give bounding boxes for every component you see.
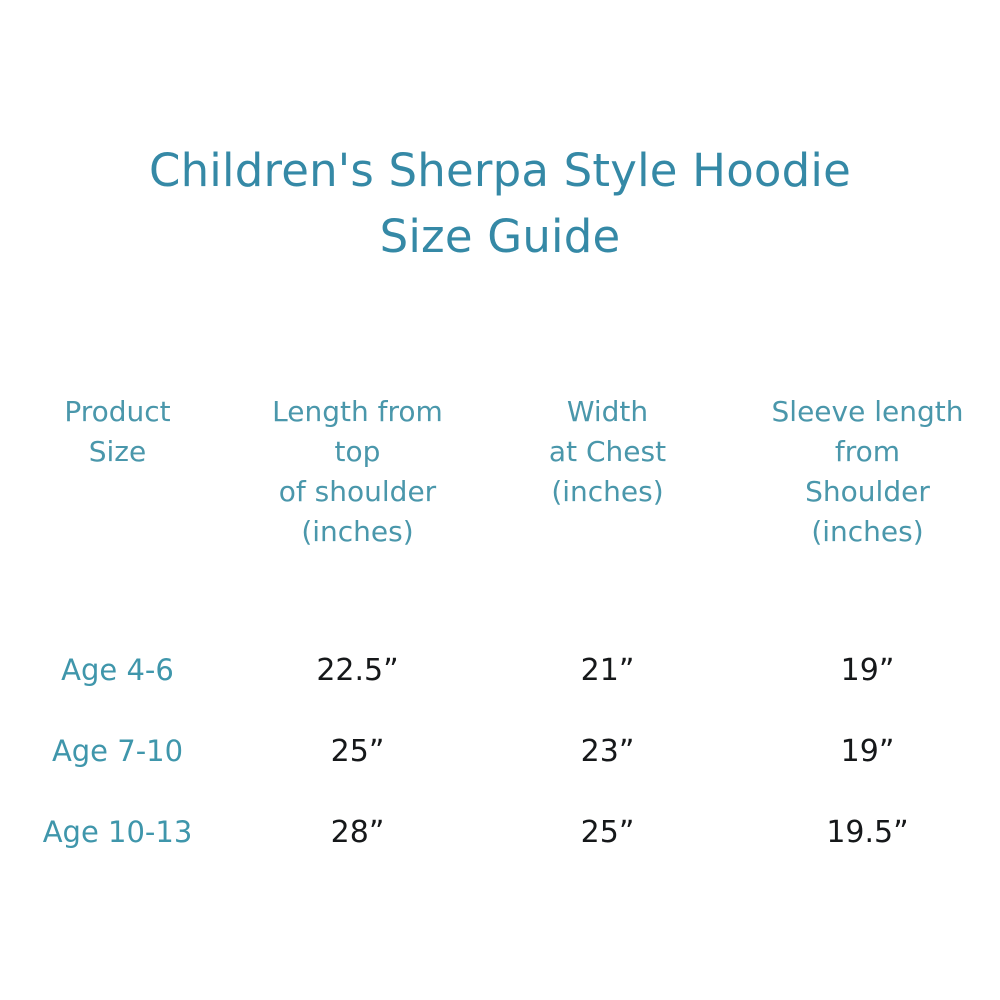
table-row: Age 4-6 22.5” 21” 19”: [0, 630, 1000, 711]
column-header-line: (inches): [735, 512, 1000, 552]
spacer-cell: [235, 552, 480, 630]
measure-value: 23”: [581, 734, 635, 769]
table-body: Age 4-6 22.5” 21” 19” Age 7-10 25”: [0, 552, 1000, 873]
column-header-line: (inches): [480, 472, 735, 512]
cell-length-from-top-of-shoulder: 28”: [235, 792, 480, 873]
spacer-cell: [0, 552, 235, 630]
column-header-line: Length from: [235, 392, 480, 432]
table-row: Age 7-10 25” 23” 19”: [0, 711, 1000, 792]
cell-product-size: Age 7-10: [0, 711, 235, 792]
table-header: Product Size Length from top of shoulder…: [0, 392, 1000, 552]
page-title-line-2: Size Guide: [0, 204, 1000, 270]
cell-length-from-top-of-shoulder: 22.5”: [235, 630, 480, 711]
column-header-product-size: Product Size: [0, 392, 235, 552]
column-header-line: Sleeve length: [735, 392, 1000, 432]
measure-value: 21”: [581, 653, 635, 688]
column-header-line: Product: [0, 392, 235, 432]
column-header-line: top: [235, 432, 480, 472]
page-title: Children's Sherpa Style Hoodie Size Guid…: [0, 138, 1000, 270]
column-header-line: Shoulder: [735, 472, 1000, 512]
measure-value: 28”: [331, 815, 385, 850]
page-title-line-1: Children's Sherpa Style Hoodie: [0, 138, 1000, 204]
cell-product-size: Age 10-13: [0, 792, 235, 873]
cell-length-from-top-of-shoulder: 25”: [235, 711, 480, 792]
cell-width-at-chest: 23”: [480, 711, 735, 792]
cell-sleeve-length-from-shoulder: 19”: [735, 630, 1000, 711]
cell-sleeve-length-from-shoulder: 19.5”: [735, 792, 1000, 873]
cell-sleeve-length-from-shoulder: 19”: [735, 711, 1000, 792]
column-header-line: (inches): [235, 512, 480, 552]
measure-value: 22.5”: [316, 653, 398, 688]
column-header-width-at-chest: Width at Chest (inches): [480, 392, 735, 552]
size-guide-page: Children's Sherpa Style Hoodie Size Guid…: [0, 0, 1000, 1000]
size-label: Age 10-13: [43, 815, 193, 849]
column-header-sleeve-length-from-shoulder: Sleeve length from Shoulder (inches): [735, 392, 1000, 552]
measure-value: 25”: [581, 815, 635, 850]
spacer-cell: [480, 552, 735, 630]
measure-value: 19.5”: [826, 815, 908, 850]
cell-width-at-chest: 25”: [480, 792, 735, 873]
measure-value: 19”: [841, 653, 895, 688]
size-chart-table: Product Size Length from top of shoulder…: [0, 392, 1000, 873]
spacer-cell: [735, 552, 1000, 630]
column-header-line: of shoulder: [235, 472, 480, 512]
measure-value: 25”: [331, 734, 385, 769]
size-label: Age 4-6: [61, 653, 174, 687]
column-header-line: at Chest: [480, 432, 735, 472]
header-body-spacer: [0, 552, 1000, 630]
table-header-row: Product Size Length from top of shoulder…: [0, 392, 1000, 552]
column-header-length-from-top-of-shoulder: Length from top of shoulder (inches): [235, 392, 480, 552]
size-label: Age 7-10: [52, 734, 183, 768]
table-row: Age 10-13 28” 25” 19.5”: [0, 792, 1000, 873]
measure-value: 19”: [841, 734, 895, 769]
column-header-line: from: [735, 432, 1000, 472]
cell-width-at-chest: 21”: [480, 630, 735, 711]
column-header-line: Size: [0, 432, 235, 472]
column-header-line: Width: [480, 392, 735, 432]
cell-product-size: Age 4-6: [0, 630, 235, 711]
